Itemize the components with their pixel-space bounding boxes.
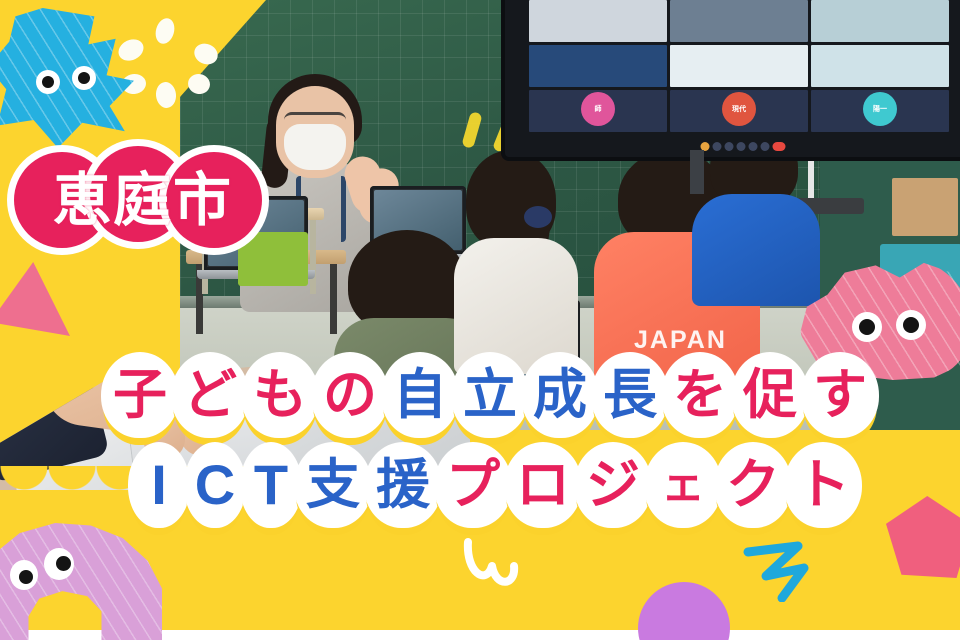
title-char: T — [240, 442, 302, 528]
title-char: ど — [171, 352, 249, 438]
title-char: 立 — [451, 352, 529, 438]
main-title: 子 ど も の 自 立 成 長 を 促 す I C T 支 援 プ ロ ジ ェ … — [0, 352, 960, 528]
title-char: 促 — [731, 352, 809, 438]
title-char: 支 — [294, 442, 372, 528]
title-char: 成 — [521, 352, 599, 438]
title-char: 長 — [591, 352, 669, 438]
title-char: も — [241, 352, 319, 438]
title-char: I — [128, 442, 190, 528]
title-char: 自 — [381, 352, 459, 438]
title-char: ェ — [644, 442, 722, 528]
blue-zigzag-icon — [742, 538, 826, 602]
video-call-toolbar[interactable] — [700, 142, 785, 151]
city-badge: 恵庭市 — [14, 146, 272, 258]
title-char: 子 — [101, 352, 179, 438]
title-line-2: I C T 支 援 プ ロ ジ ェ ク ト — [36, 442, 960, 528]
shirt-text: JAPAN — [634, 326, 727, 355]
white-squiggle-icon — [452, 536, 540, 604]
white-dot-burst — [118, 18, 228, 110]
title-char: プ — [434, 442, 512, 528]
title-char: ク — [714, 442, 792, 528]
display-stand — [690, 150, 704, 194]
cardboard-box — [892, 178, 958, 236]
city-name-label: 恵庭市 — [14, 150, 272, 250]
video-grid: 師 現代 陽一 — [529, 0, 949, 132]
title-line-1: 子 ど も の 自 立 成 長 を 促 す — [28, 352, 960, 438]
title-char: 援 — [364, 442, 442, 528]
video-conference-display: 師 現代 陽一 — [505, 0, 960, 157]
title-char: C — [184, 442, 246, 528]
promo-banner: JAPAN 師 現代 陽一 — [0, 0, 960, 640]
title-char: を — [661, 352, 739, 438]
title-char: ジ — [574, 442, 652, 528]
title-char: の — [311, 352, 389, 438]
title-char: ロ — [504, 442, 582, 528]
title-char: ト — [784, 442, 862, 528]
title-char: す — [801, 352, 879, 438]
